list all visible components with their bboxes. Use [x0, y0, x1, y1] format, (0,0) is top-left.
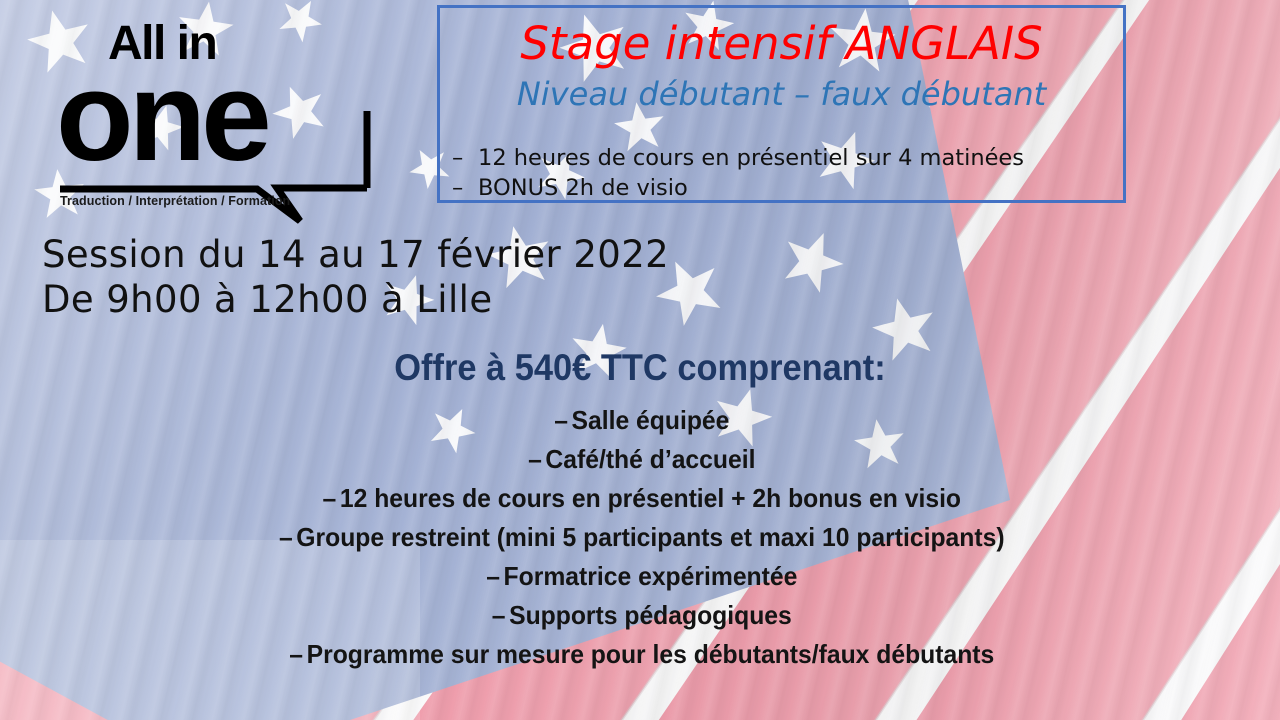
offer-inclusions-list: –Salle équipée –Café/thé d’accueil –12 h…: [0, 401, 1280, 674]
bullet-text: Café/thé d’accueil: [545, 444, 755, 474]
session-times-location: De 9h00 à 12h00 à Lille: [42, 277, 822, 322]
list-item: – 12 heures de cours en présentiel sur 4…: [452, 144, 1119, 174]
list-item: –Salle équipée: [32, 401, 1248, 440]
bullet-text: 12 heures de cours en présentiel sur 4 m…: [478, 144, 1024, 174]
bullet-text: Groupe restreint (mini 5 participants et…: [296, 522, 1004, 552]
bullet-dash: –: [452, 144, 478, 174]
bullet-text: Programme sur mesure pour les débutants/…: [307, 639, 995, 669]
bullet-text: Salle équipée: [572, 405, 730, 435]
logo-line-one: one: [56, 53, 267, 180]
all-in-one-logo: All in one Traduction / Interprétation /…: [52, 8, 432, 223]
bullet-dash: –: [551, 401, 572, 440]
bullet-dash: –: [488, 596, 509, 635]
course-header-bullet-list: – 12 heures de cours en présentiel sur 4…: [452, 144, 1119, 204]
bullet-dash: –: [525, 440, 546, 479]
course-level-subtitle: Niveau débutant – faux débutant: [440, 77, 1123, 112]
offer-heading: Offre à 540€ TTC comprenant:: [45, 348, 1235, 389]
bullet-text: Supports pédagogiques: [509, 600, 792, 630]
bullet-dash: –: [275, 518, 296, 557]
list-item: –Supports pédagogiques: [32, 596, 1248, 635]
bullet-text: 12 heures de cours en présentiel + 2h bo…: [340, 483, 961, 513]
bullet-dash: –: [286, 635, 307, 674]
list-item: – BONUS 2h de visio: [452, 174, 1119, 204]
list-item: –Café/thé d’accueil: [32, 440, 1248, 479]
bullet-dash: –: [452, 174, 478, 204]
session-info: Session du 14 au 17 février 2022 De 9h00…: [42, 232, 822, 322]
logo-tagline: Traduction / Interprétation / Formation: [60, 194, 290, 208]
list-item: –12 heures de cours en présentiel + 2h b…: [32, 479, 1248, 518]
bullet-dash: –: [319, 479, 340, 518]
list-item: –Programme sur mesure pour les débutants…: [32, 635, 1248, 674]
poster-canvas: All in one Traduction / Interprétation /…: [0, 0, 1280, 720]
bullet-dash: –: [483, 557, 504, 596]
session-dates: Session du 14 au 17 février 2022: [42, 232, 822, 277]
list-item: –Formatrice expérimentée: [32, 557, 1248, 596]
course-title: Stage intensif ANGLAIS: [440, 20, 1123, 67]
bullet-text: BONUS 2h de visio: [478, 174, 688, 204]
list-item: –Groupe restreint (mini 5 participants e…: [32, 518, 1248, 557]
offer-section: Offre à 540€ TTC comprenant: –Salle équi…: [0, 348, 1280, 674]
course-header-box: Stage intensif ANGLAIS Niveau débutant –…: [437, 5, 1126, 203]
bullet-text: Formatrice expérimentée: [504, 561, 798, 591]
